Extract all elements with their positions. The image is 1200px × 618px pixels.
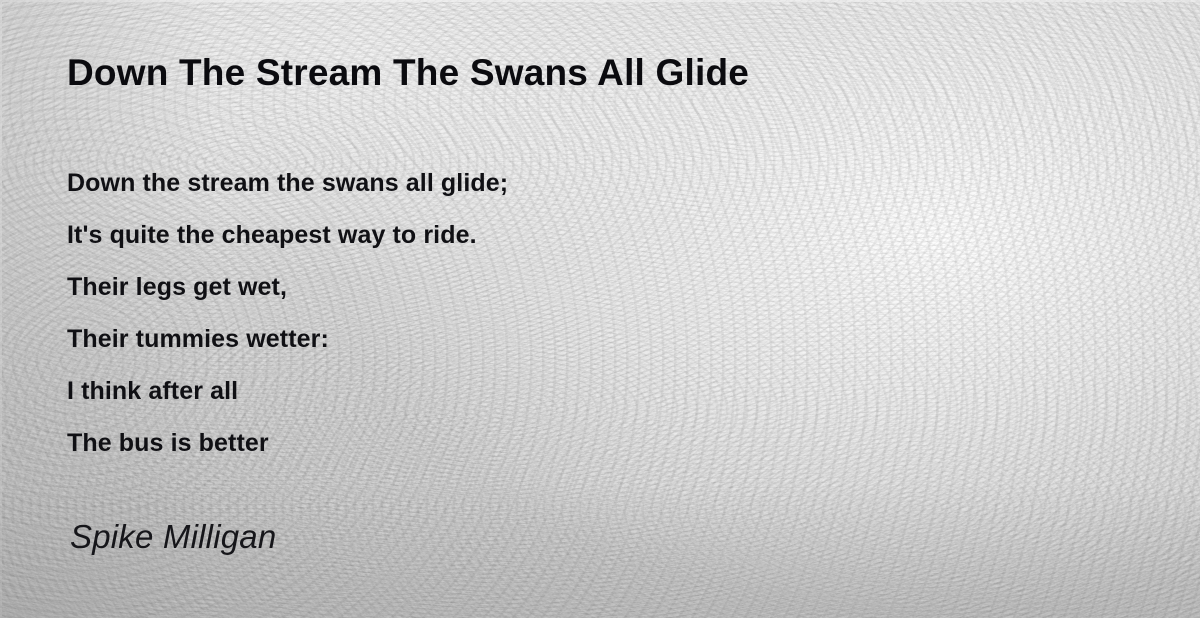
poem-line: The bus is better xyxy=(67,417,508,469)
poem-line: Their legs get wet, xyxy=(67,261,508,313)
poem-title: Down The Stream The Swans All Glide xyxy=(67,52,749,94)
poem-image-card: Down The Stream The Swans All Glide Down… xyxy=(0,0,1200,618)
poem-line: Down the stream the swans all glide; xyxy=(67,157,508,209)
poem-author-attribution: Spike Milligan xyxy=(70,518,276,556)
poem-line: Their tummies wetter: xyxy=(67,313,508,365)
poem-line: It's quite the cheapest way to ride. xyxy=(67,209,508,261)
poem-line: I think after all xyxy=(67,365,508,417)
poem-body: Down the stream the swans all glide; It'… xyxy=(67,157,508,469)
poem-content: Down The Stream The Swans All Glide Down… xyxy=(0,0,1200,618)
